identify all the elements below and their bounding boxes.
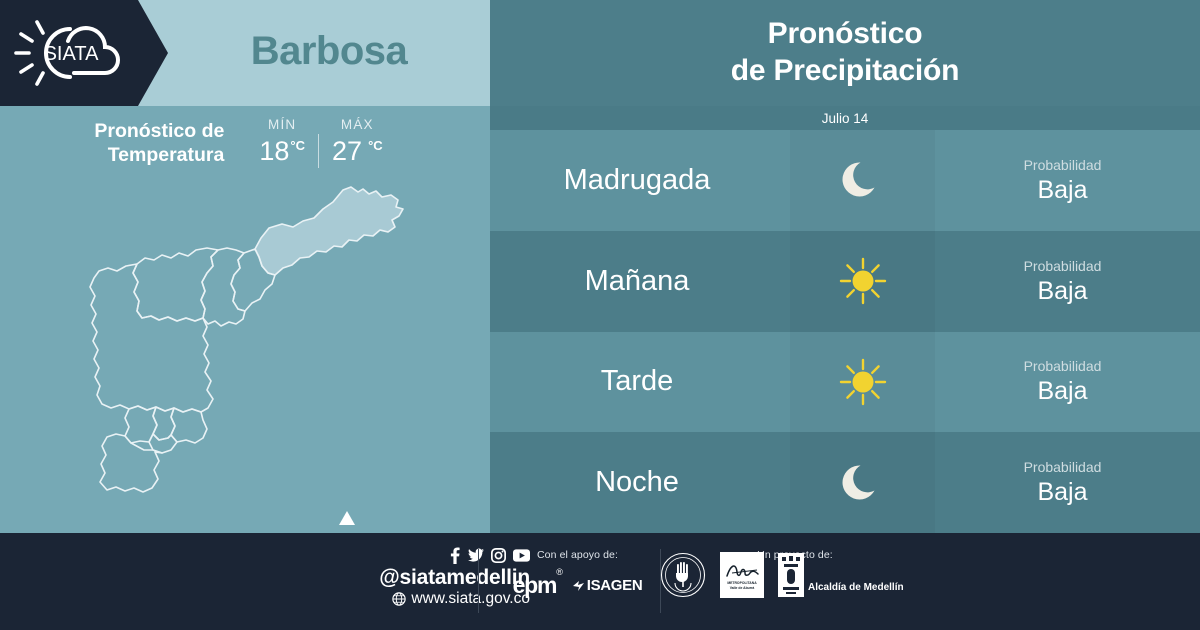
temperature-min-unit: °C xyxy=(290,139,305,152)
forecast-header: Pronóstico de Precipitación xyxy=(490,0,1200,106)
temperature-title: Pronóstico de Temperatura xyxy=(94,118,224,168)
alcaldia-de-medellin-logo[interactable]: Alcaldía de Medellín xyxy=(778,553,904,597)
forecast-row-manana[interactable]: Mañana xyxy=(490,231,1200,332)
siata-logo-text: SIATA xyxy=(44,43,99,65)
probability-value: Baja xyxy=(1037,379,1087,404)
temperature-max: MÁX 27 °C xyxy=(319,118,396,165)
map-region-bello[interactable] xyxy=(133,248,218,321)
support-label: Con el apoyo de: xyxy=(500,549,655,561)
area-metropolitana-logo[interactable]: METROPOLITANA Valle de Aburrá xyxy=(720,552,764,598)
website-line[interactable]: www.siata.gov.co xyxy=(300,590,530,608)
sun-icon xyxy=(790,332,935,433)
probability-cell: Probabilidad Baja xyxy=(935,130,1200,231)
forecast-row-madrugada[interactable]: Madrugada Probabilidad Baja xyxy=(490,130,1200,231)
forecast-row-tarde[interactable]: Tarde xyxy=(490,332,1200,433)
forecast-rows: Madrugada Probabilidad Baja Mañana xyxy=(490,130,1200,533)
temperature-min-value: 18 xyxy=(259,138,289,165)
temperature-min: MÍN 18 °C xyxy=(246,118,318,165)
probability-cell: Probabilidad Baja xyxy=(935,432,1200,533)
facebook-icon[interactable] xyxy=(448,547,461,564)
probability-label: Probabilidad xyxy=(1024,158,1102,172)
isagen-logo-text: ISAGEN xyxy=(587,578,643,593)
map-svg xyxy=(55,178,455,528)
map-region-envigado[interactable] xyxy=(171,408,207,443)
probability-value: Baja xyxy=(1037,178,1087,203)
moon-icon xyxy=(790,130,935,231)
period-label: Madrugada xyxy=(490,130,790,231)
globe-icon xyxy=(392,592,406,606)
isagen-logo[interactable]: ISAGEN xyxy=(572,578,643,593)
forecast-date: Julio 14 xyxy=(490,106,1200,130)
area-logo-line2: Valle de Aburrá xyxy=(727,586,756,590)
map-region-barbosa[interactable] xyxy=(255,187,403,275)
project-logos: METROPOLITANA Valle de Aburrá Alcaldía d… xyxy=(660,552,904,598)
north-arrow-icon xyxy=(333,510,361,526)
probability-label: Probabilidad xyxy=(1024,460,1102,474)
social-handle[interactable]: @siatamedellin xyxy=(300,567,530,590)
footer: @siatamedellin www.siata.gov.co Con el a… xyxy=(0,533,1200,630)
alcaldia-shield-icon xyxy=(778,553,804,597)
area-script-mark xyxy=(724,560,760,580)
area-logo-line1: METROPOLITANA xyxy=(727,581,756,585)
probability-cell: Probabilidad Baja xyxy=(935,231,1200,332)
left-panel: SIATA Barbosa Pronóstico de Temperatura … xyxy=(0,0,490,533)
probability-label: Probabilidad xyxy=(1024,259,1102,273)
twitter-icon[interactable] xyxy=(468,547,484,564)
page-title: Barbosa xyxy=(168,0,490,106)
forecast-title: Pronóstico de Precipitación xyxy=(731,16,960,89)
temperature-max-label: MÁX xyxy=(341,118,374,132)
probability-cell: Probabilidad Baja xyxy=(935,332,1200,433)
temperature-max-value: 27 xyxy=(332,138,362,165)
sun-icon xyxy=(790,231,935,332)
period-label: Tarde xyxy=(490,332,790,433)
support-logos: epm® ISAGEN xyxy=(500,574,655,597)
temperature-title-line1: Pronóstico de xyxy=(94,120,224,144)
isagen-mark-icon xyxy=(572,580,585,592)
social-block: @siatamedellin www.siata.gov.co xyxy=(300,547,530,607)
siata-logo-pennant: SIATA xyxy=(0,0,168,106)
valle-de-aburra-map: N xyxy=(55,178,455,528)
area-logo-subtext: METROPOLITANA Valle de Aburrá xyxy=(727,581,756,590)
support-block: Con el apoyo de: epm® ISAGEN xyxy=(500,549,655,597)
probability-value: Baja xyxy=(1037,480,1087,505)
period-label: Mañana xyxy=(490,231,790,332)
temperature-values: MÍN 18 °C MÁX 27 °C xyxy=(246,118,395,168)
footer-divider-1 xyxy=(478,549,479,613)
temperature-max-value-group: 27 °C xyxy=(332,138,383,165)
temperature-min-value-group: 18 °C xyxy=(259,138,305,165)
alcaldia-logo-text: Alcaldía de Medellín xyxy=(808,582,904,597)
map-region-copacabana[interactable] xyxy=(201,248,245,326)
temperature-max-unit: °C xyxy=(368,139,383,152)
weather-forecast-infographic: SIATA Barbosa Pronóstico de Temperatura … xyxy=(0,0,1200,630)
moon-icon xyxy=(790,432,935,533)
temperature-title-line2: Temperatura xyxy=(94,144,224,168)
period-label: Noche xyxy=(490,432,790,533)
forecast-row-noche[interactable]: Noche Probabilidad Baja xyxy=(490,432,1200,533)
map-region-la-estrella[interactable] xyxy=(125,406,157,443)
epm-logo[interactable]: epm® xyxy=(513,574,562,597)
probability-label: Probabilidad xyxy=(1024,359,1102,373)
precipitation-panel: Pronóstico de Precipitación Julio 14 Mad… xyxy=(490,0,1200,533)
map-region-caldas[interactable] xyxy=(100,434,162,492)
universidad-de-medellin-seal[interactable] xyxy=(660,552,706,598)
map-region-medellin[interactable] xyxy=(90,264,213,412)
probability-value: Baja xyxy=(1037,279,1087,304)
temperature-min-label: MÍN xyxy=(268,118,296,132)
forecast-title-line2: de Precipitación xyxy=(731,53,960,90)
forecast-title-line1: Pronóstico xyxy=(731,16,960,53)
sun-cloud-icon: SIATA xyxy=(12,16,130,90)
social-icons xyxy=(300,547,530,564)
